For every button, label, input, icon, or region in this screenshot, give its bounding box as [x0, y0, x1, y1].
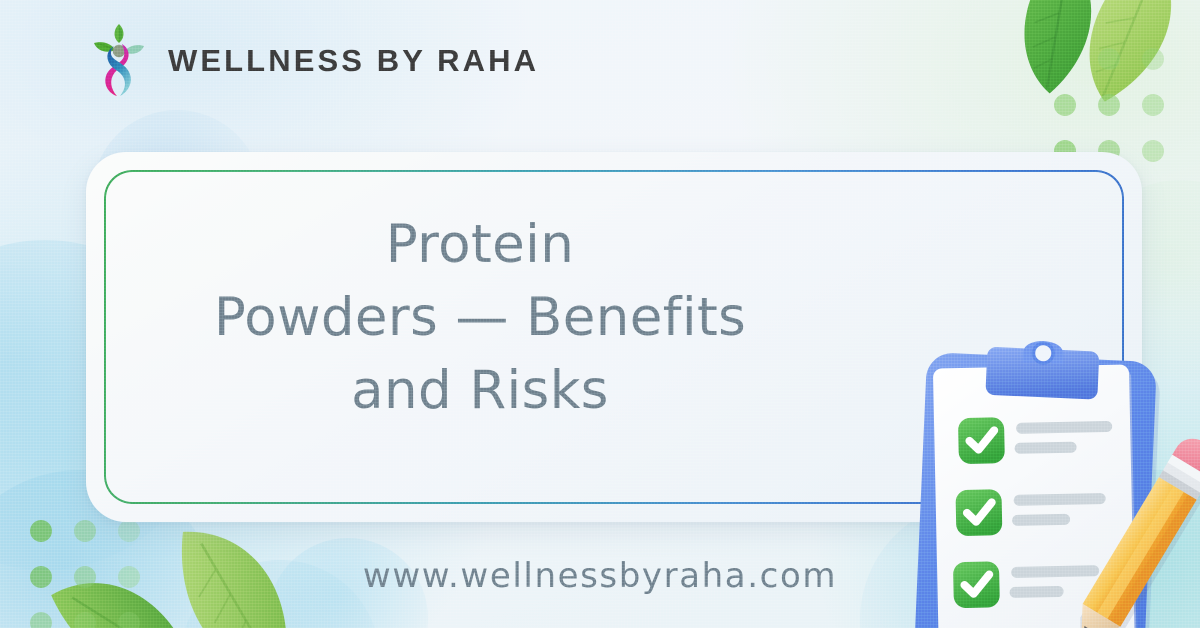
social-share-card: WELLNESS BY RAHA Protein Powders — Benef…	[0, 0, 1200, 628]
dot	[1098, 48, 1120, 70]
title-line-1: Protein	[130, 208, 830, 281]
dot	[1142, 94, 1164, 116]
site-url[interactable]: www.wellnessbyraha.com	[0, 556, 1200, 596]
dot	[118, 612, 140, 628]
dot	[1142, 48, 1164, 70]
dot	[74, 612, 96, 628]
dot	[1054, 48, 1076, 70]
dot	[74, 520, 96, 542]
dot	[1142, 186, 1164, 208]
dot	[1054, 94, 1076, 116]
dot	[30, 612, 52, 628]
brand-name: WELLNESS BY RAHA	[168, 43, 539, 79]
title-line-2: Powders — Benefits	[130, 281, 830, 354]
dot	[118, 520, 140, 542]
dot	[1098, 94, 1120, 116]
dot	[1142, 140, 1164, 162]
title-line-3: and Risks	[130, 354, 830, 427]
content-card: Protein Powders — Benefits and Risks	[86, 152, 1142, 522]
page-title: Protein Powders — Benefits and Risks	[130, 208, 830, 427]
wellness-figure-logo-icon	[88, 22, 150, 100]
dot	[30, 520, 52, 542]
brand-logo: WELLNESS BY RAHA	[88, 22, 539, 100]
